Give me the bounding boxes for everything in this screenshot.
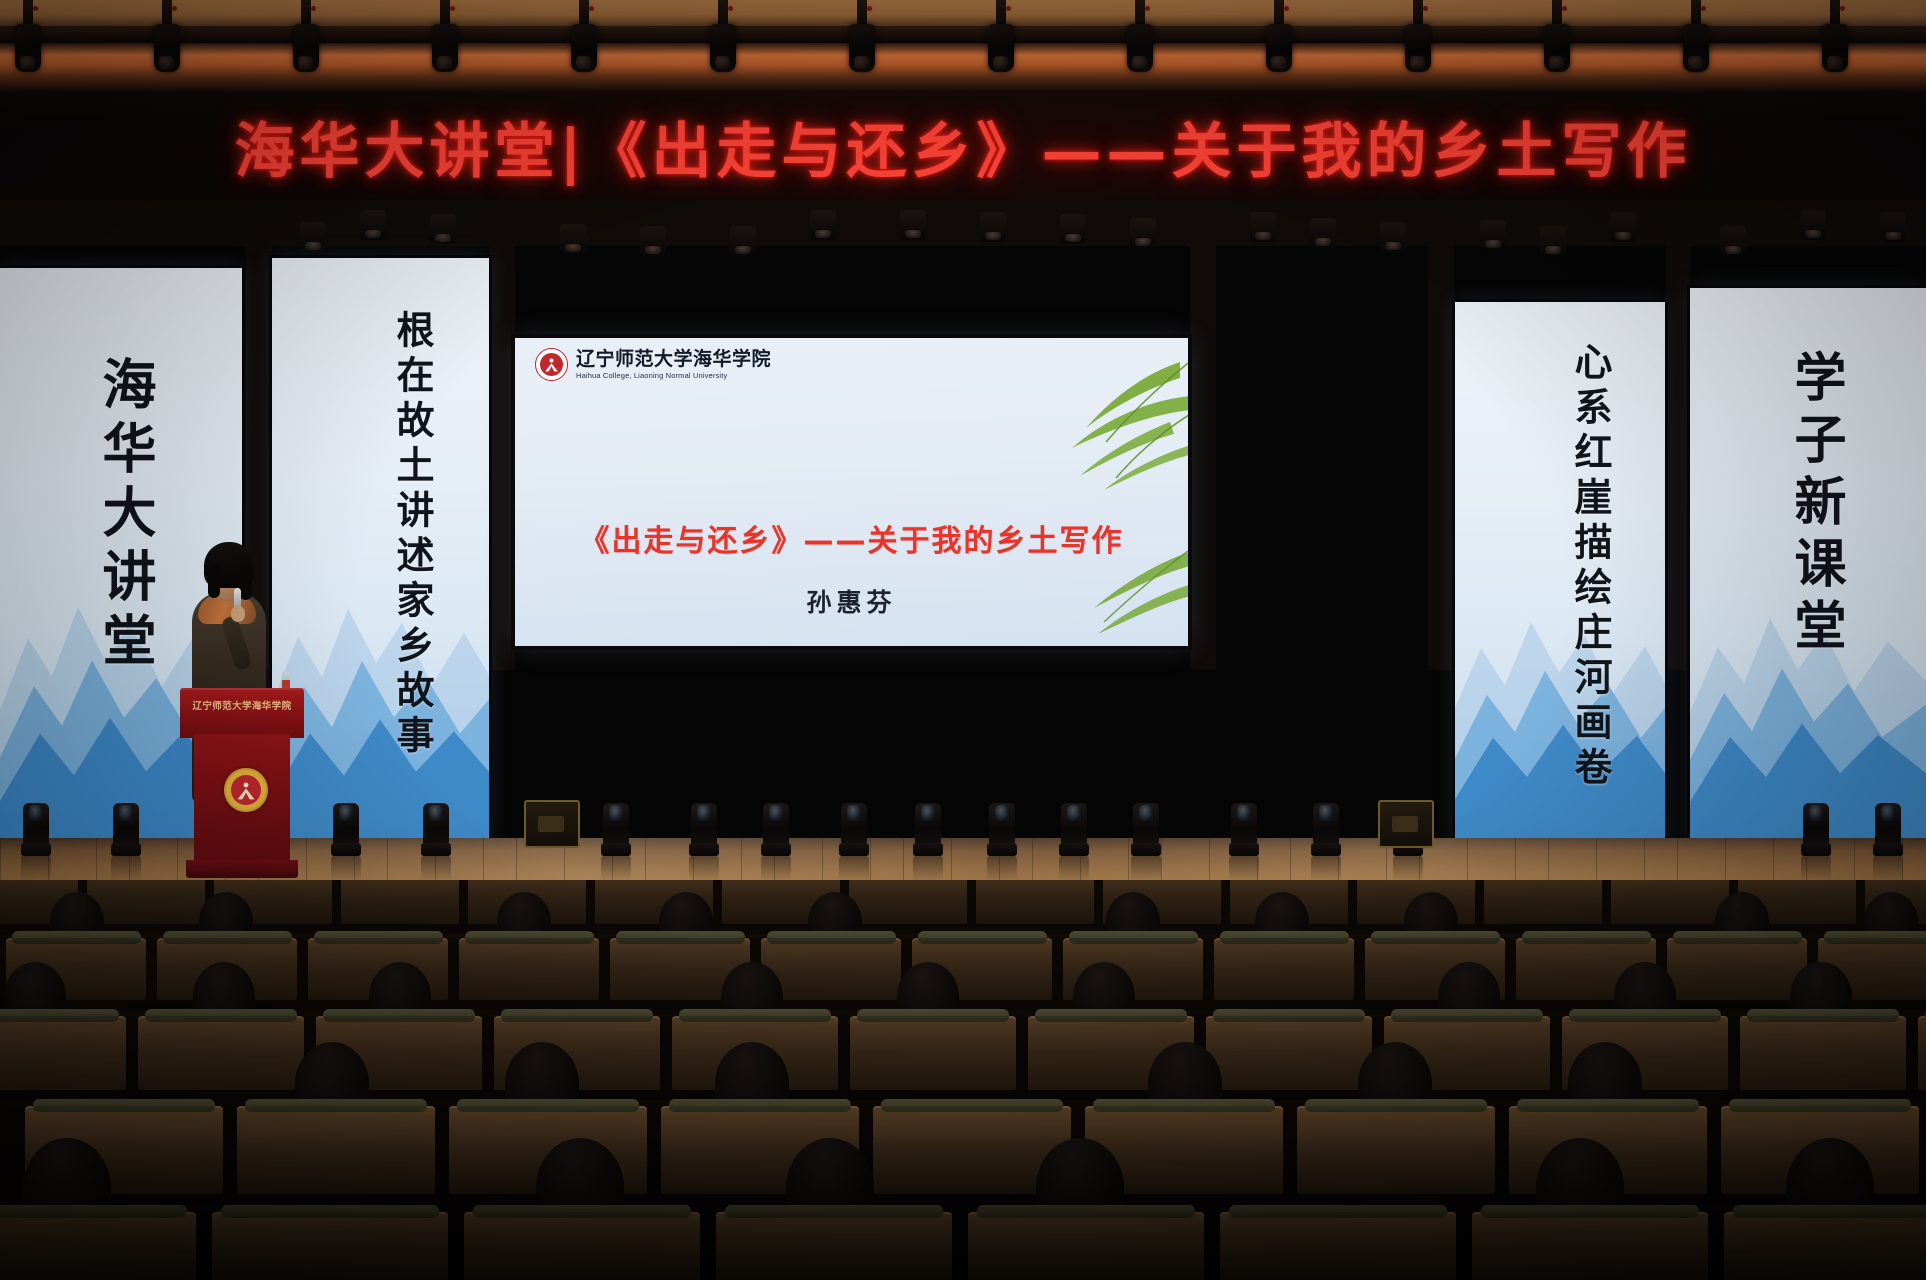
moving-head-light	[760, 800, 792, 856]
podium-and-speaker: 辽宁师范大学海华学院	[176, 520, 306, 880]
grid-beam-horizontal	[0, 200, 1926, 246]
moving-head-light	[20, 800, 52, 856]
rig-light-fixture	[730, 226, 756, 256]
rig-light-fixture	[560, 224, 586, 254]
moving-head-light	[600, 800, 632, 856]
rig-light-fixture	[1310, 218, 1336, 248]
logo-chinese-name: 辽宁师范大学海华学院	[576, 350, 771, 369]
panel-right-1: 心系红崖描绘庄河画卷	[1455, 302, 1665, 848]
ceiling-light	[292, 0, 320, 74]
ceiling-light	[14, 0, 42, 74]
university-crest-icon	[535, 348, 568, 381]
ceiling-light	[153, 0, 181, 74]
panel-right-2: 学子新课堂	[1690, 288, 1926, 848]
panel-right-2-text: 学子新课堂	[1778, 350, 1853, 660]
ceiling-light	[987, 0, 1015, 74]
panel-left-2-text: 根在故土讲述家乡故事	[385, 310, 440, 760]
moving-head-light	[1058, 800, 1090, 856]
moving-head-light	[110, 800, 142, 856]
grid-beam-vertical-right	[1428, 200, 1454, 670]
podium-ribbon-text: 辽宁师范大学海华学院	[188, 698, 296, 712]
ceiling-light	[431, 0, 459, 74]
rig-light-fixture	[1720, 226, 1746, 256]
ceiling-light	[1404, 0, 1432, 74]
led-banner: 海华大讲堂|《出走与还乡》——关于我的乡土写作	[0, 92, 1926, 200]
ceiling	[0, 0, 1926, 92]
grid-beam-vertical-midright	[1190, 200, 1216, 670]
flight-case-left	[524, 800, 580, 848]
podium-university-seal-icon	[224, 768, 268, 812]
rig-light-fixture	[1800, 210, 1826, 240]
moving-head-light	[1310, 800, 1342, 856]
banner-text: 海华大讲堂|《出走与还乡》——关于我的乡土写作	[0, 92, 1926, 200]
grid-beam-vertical-midleft	[489, 200, 515, 670]
rig-light-fixture	[1610, 212, 1636, 242]
ceiling-light	[1821, 0, 1849, 74]
moving-head-light	[1130, 800, 1162, 856]
bamboo-decoration-top	[994, 356, 1188, 506]
ceiling-light	[1126, 0, 1154, 74]
moving-head-light	[1800, 800, 1832, 856]
podium-upper	[180, 688, 304, 738]
ceiling-light	[709, 0, 737, 74]
row-shadow	[0, 880, 1926, 934]
speaker-hand	[231, 606, 245, 622]
ceiling-light	[1543, 0, 1571, 74]
slide-title: 《出走与还乡》——关于我的乡土写作	[515, 516, 1188, 560]
rig-light-fixture	[1540, 226, 1566, 256]
moving-head-light	[688, 800, 720, 856]
rig-light-fixture	[1060, 214, 1086, 244]
rig-light-fixture	[980, 212, 1006, 242]
grid-beam-vertical-farright	[1666, 200, 1690, 670]
rig-light-fixture	[1480, 220, 1506, 250]
rig-light-fixture	[430, 214, 456, 244]
moving-head-light	[1872, 800, 1904, 856]
rig-light-fixture	[810, 210, 836, 240]
ceiling-truss	[0, 26, 1926, 43]
rig-light-fixture	[300, 222, 326, 252]
moving-head-light	[838, 800, 870, 856]
slide-author: 孙惠芬	[515, 583, 1188, 619]
moving-head-light	[420, 800, 452, 856]
panel-right-1-text: 心系红崖描绘庄河画卷	[1563, 342, 1618, 792]
moving-head-light	[330, 800, 362, 856]
lecture-hall-photo: 海华大讲堂|《出走与还乡》——关于我的乡土写作 海华大讲堂 根在故土讲述家乡故事	[0, 0, 1926, 1280]
rig-light-fixture	[1880, 212, 1906, 242]
flight-case-right	[1378, 800, 1434, 848]
ceiling-light	[1682, 0, 1710, 74]
ceiling-light	[570, 0, 598, 74]
rig-light-fixture	[900, 210, 926, 240]
rig-light-fixture	[1130, 218, 1156, 248]
ceiling-light	[848, 0, 876, 74]
main-presentation-screen: 辽宁师范大学海华学院 Haihua College, Liaoning Norm…	[515, 338, 1188, 646]
ceiling-light	[1265, 0, 1293, 74]
audience-seating	[0, 880, 1926, 1280]
audience-vignette	[0, 1130, 1926, 1280]
logo-english-name: Haihua College, Liaoning Normal Universi…	[576, 372, 771, 380]
rig-light-fixture	[1250, 212, 1276, 242]
moving-head-light	[1228, 800, 1260, 856]
ink-mountain-art	[1455, 531, 1665, 848]
moving-head-light	[986, 800, 1018, 856]
podium-base	[186, 860, 298, 878]
rig-light-fixture	[360, 210, 386, 240]
slide-university-logo: 辽宁师范大学海华学院 Haihua College, Liaoning Norm…	[535, 348, 771, 381]
rig-light-fixture	[640, 226, 666, 256]
panel-left-1-text: 海华大讲堂	[86, 356, 165, 676]
rig-light-fixture	[1380, 222, 1406, 252]
moving-head-light	[912, 800, 944, 856]
speaker-hair	[204, 542, 254, 588]
